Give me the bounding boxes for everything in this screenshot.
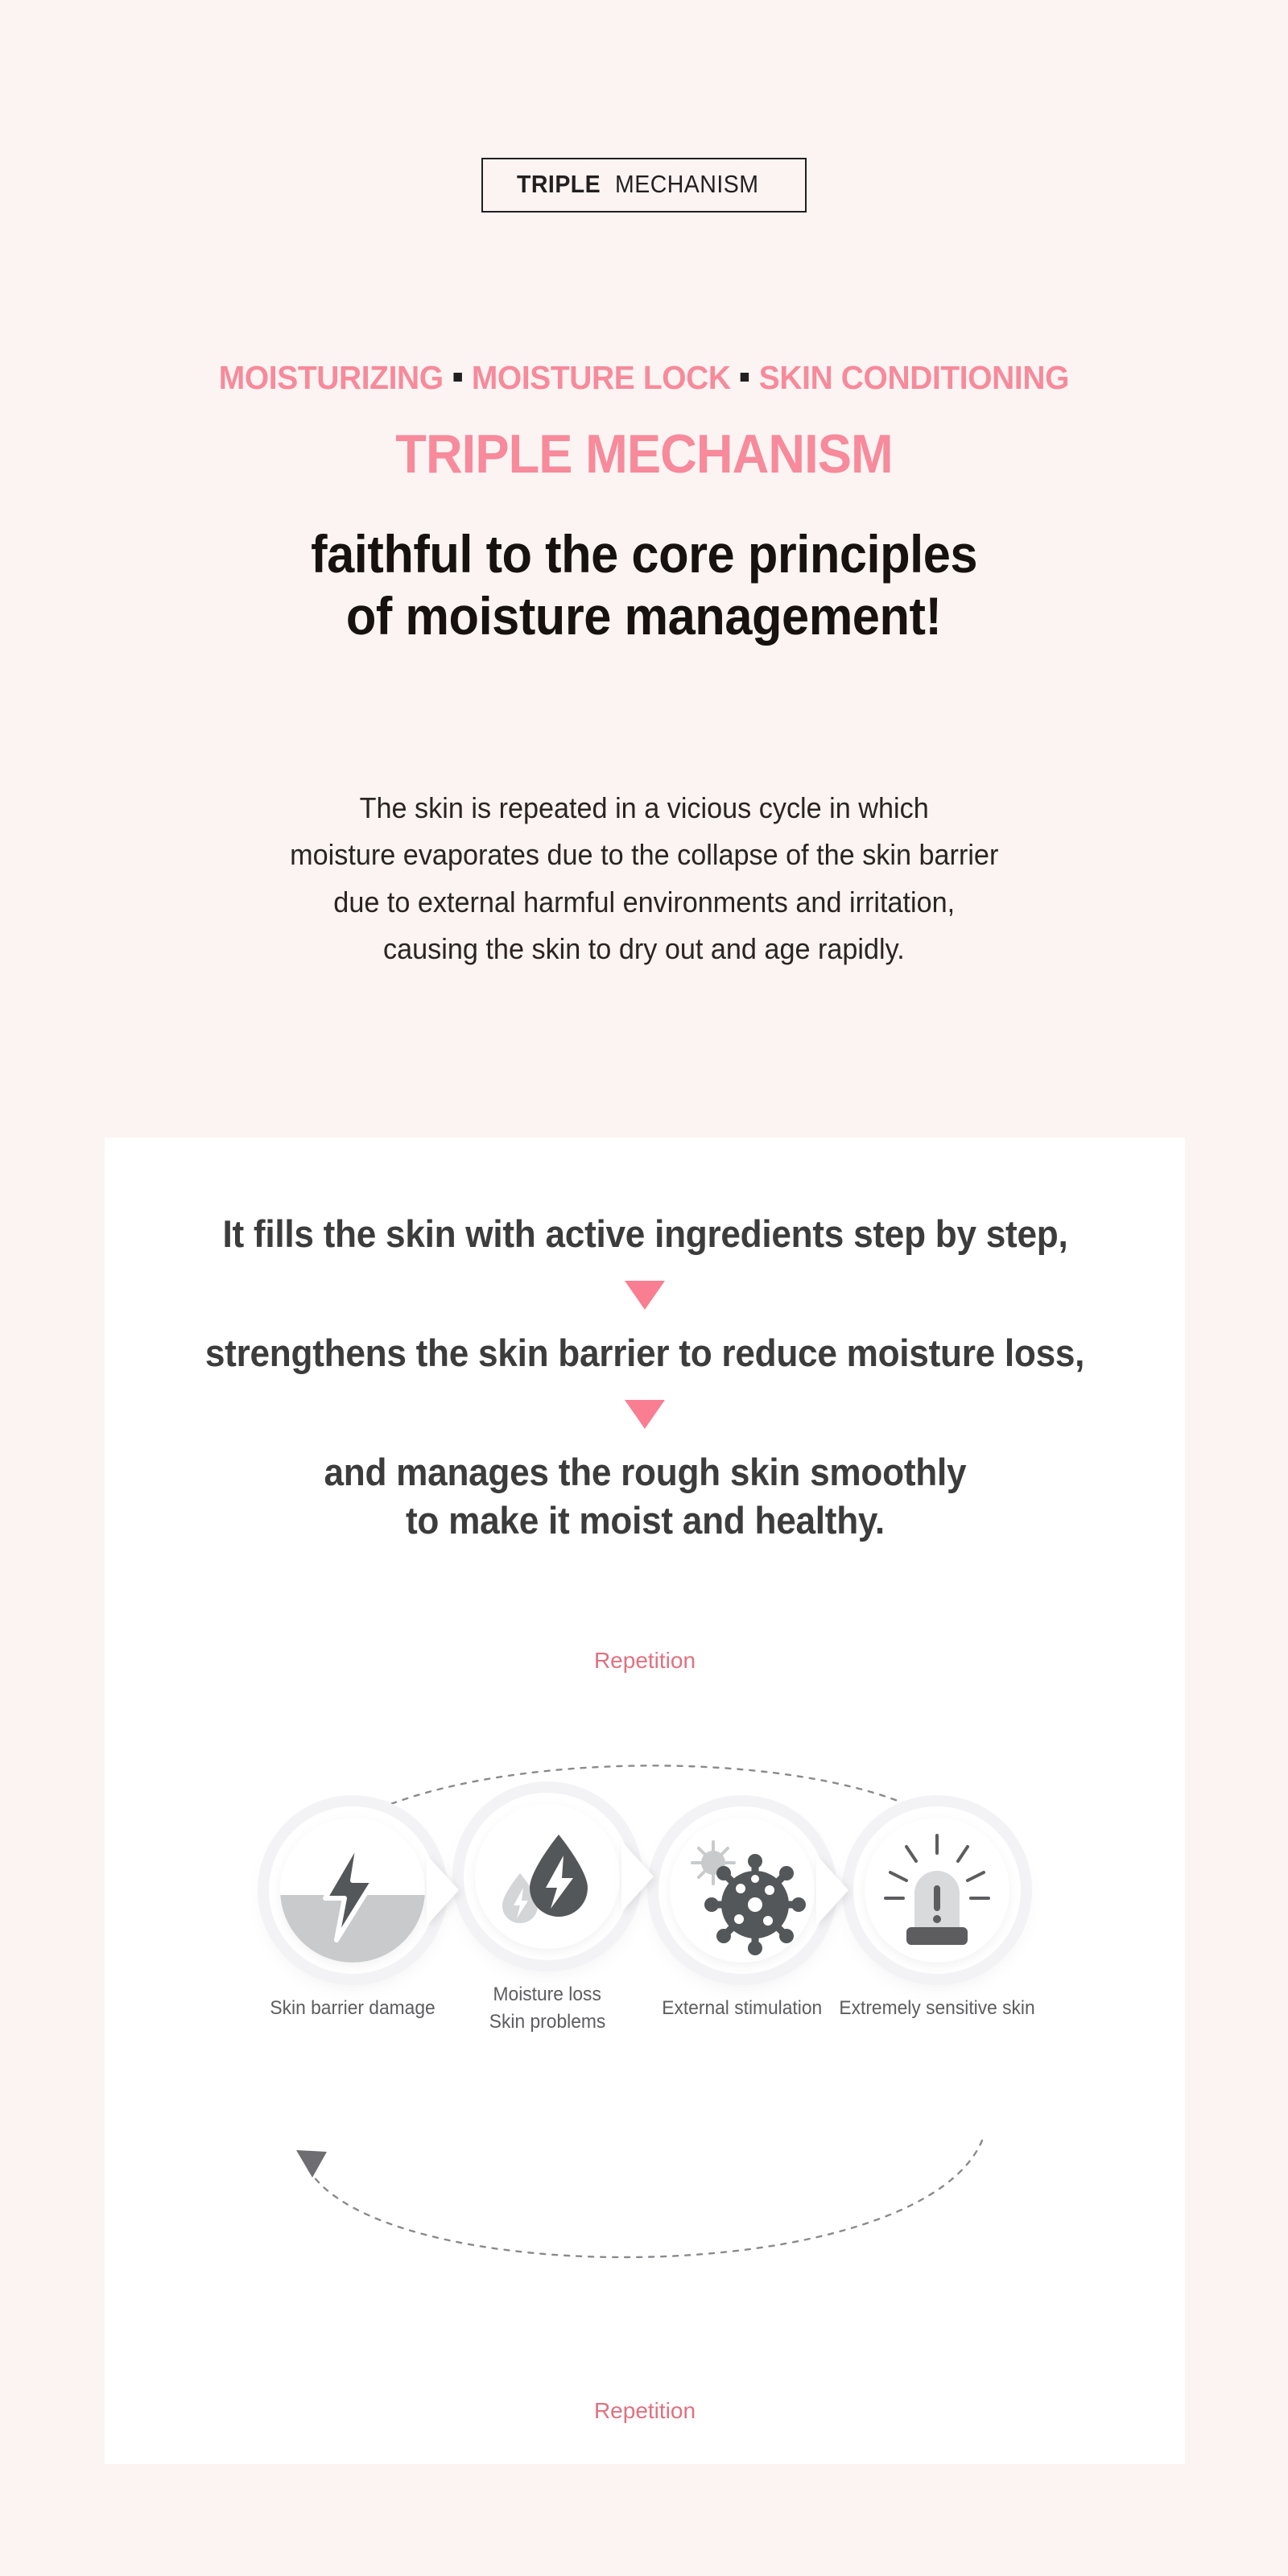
paragraph-line-2: moisture evaporates due to the collapse … xyxy=(290,832,998,878)
alarm-siren-warning-icon xyxy=(865,1818,1009,1963)
cycle-arrows-svg xyxy=(105,1643,1185,2448)
cycle-nodes-row: Skin barrier damage xyxy=(105,1793,1185,2036)
step-line-1: It fills the skin with active ingredient… xyxy=(105,1210,1185,1258)
siren-base xyxy=(906,1927,968,1945)
cycle-node-2-disc xyxy=(464,1793,631,1960)
cycle-node-3-label: External stimulation xyxy=(658,1995,826,2022)
mechanism-card: It fills the skin with active ingredient… xyxy=(105,1137,1185,2464)
repetition-label-top: Repetition xyxy=(594,1648,696,1674)
badge-light-text: MECHANISM xyxy=(615,170,758,199)
step-1-text: It fills the skin with active ingredient… xyxy=(222,1210,1067,1258)
cycle-node-1-label-line-1: Skin barrier damage xyxy=(270,1995,435,2022)
cycle-node-1-disc xyxy=(269,1806,436,1974)
virus-body xyxy=(704,1854,806,1955)
paragraph-line-4: causing the skin to dry out and age rapi… xyxy=(383,926,905,972)
cycle-node-4-disc xyxy=(853,1806,1021,1974)
cycle-node-3-disc xyxy=(658,1806,826,1974)
cycle-node-1: Skin barrier damage xyxy=(255,1806,450,2022)
cycle-node-2-label: Moisture loss Skin problems xyxy=(486,1981,609,2036)
chevron-right-icon-2 xyxy=(621,1841,654,1912)
cycle-node-4-label: Extremely sensitive skin xyxy=(834,1995,1040,2022)
kicker-part-3: SKIN CONDITIONING xyxy=(759,359,1069,396)
cycle-node-3: External stimulation xyxy=(645,1806,840,2022)
headline-line-2: of moisture management! xyxy=(346,585,942,647)
step-line-4: to make it moist and healthy. xyxy=(105,1496,1185,1545)
page-title-pink: TRIPLE MECHANISM xyxy=(0,427,1288,481)
chevron-right-icon-3 xyxy=(816,1855,848,1926)
kicker-line: MOISTURIZINGMOISTURE LOCKSKIN CONDITIONI… xyxy=(0,359,1288,397)
cycle-node-2: Moisture loss Skin problems xyxy=(450,1793,645,2036)
cycle-node-4-inner xyxy=(865,1818,1009,1963)
cycle-node-4-label-line-1: Extremely sensitive skin xyxy=(839,1995,1034,2022)
page-headline: faithful to the core principles of moist… xyxy=(0,523,1288,647)
chevron-right-icon-1 xyxy=(427,1855,459,1926)
page-title-pink-text: TRIPLE MECHANISM xyxy=(395,427,893,481)
cycle-node-1-inner xyxy=(280,1818,425,1963)
cycle-node-1-label: Skin barrier damage xyxy=(266,1995,440,2022)
triple-mechanism-badge: TRIPLE MECHANISM xyxy=(481,158,807,213)
kicker-part-1: MOISTURIZING xyxy=(219,359,444,396)
step-2-text: strengthens the skin barrier to reduce m… xyxy=(205,1329,1084,1377)
step-3-text-line-2: to make it moist and healthy. xyxy=(406,1496,885,1545)
product-detail-page: TRIPLE MECHANISM MOISTURIZINGMOISTURE LO… xyxy=(0,0,1288,2576)
vicious-cycle-diagram: Repetition Repetition xyxy=(105,1643,1185,2448)
virus-germ-with-sun-icon xyxy=(670,1818,815,1963)
paragraph-line-3: due to external harmful environments and… xyxy=(333,879,955,926)
section-badge-wrapper: TRIPLE MECHANISM xyxy=(0,158,1288,213)
repetition-arc-bottom xyxy=(306,2140,982,2257)
water-droplets-with-bolt-icon xyxy=(475,1804,620,1949)
paragraph-line-1: The skin is repeated in a vicious cycle … xyxy=(359,785,928,832)
repetition-arrowhead-bottom xyxy=(296,2150,327,2178)
repetition-label-bottom: Repetition xyxy=(594,2398,696,2424)
cycle-node-2-inner xyxy=(475,1804,620,1949)
mechanism-steps: It fills the skin with active ingredient… xyxy=(105,1210,1185,1546)
cycle-node-2-label-line-1: Moisture loss xyxy=(493,1981,601,2008)
arrow-down-icon-2 xyxy=(625,1400,665,1429)
badge-strong-text: TRIPLE xyxy=(517,170,601,199)
cycle-node-4: Extremely sensitive skin xyxy=(840,1806,1034,2022)
arrow-down-icon-1 xyxy=(625,1281,665,1310)
kicker-separator-dot-1 xyxy=(453,373,461,382)
intro-paragraph: The skin is repeated in a vicious cycle … xyxy=(0,785,1288,972)
step-line-3: and manages the rough skin smoothly xyxy=(105,1448,1185,1496)
step-line-2: strengthens the skin barrier to reduce m… xyxy=(105,1329,1185,1377)
kicker-part-2: MOISTURE LOCK xyxy=(472,359,731,396)
step-3-text-line-1: and manages the rough skin smoothly xyxy=(324,1448,966,1496)
cycle-node-3-inner xyxy=(670,1818,815,1963)
kicker-separator-dot-2 xyxy=(741,373,749,382)
cycle-node-2-label-line-2: Skin problems xyxy=(489,2008,605,2036)
cycle-node-3-label-line-1: External stimulation xyxy=(663,1995,823,2022)
lightning-bolt-over-half-filled-circle-icon xyxy=(280,1818,425,1963)
headline-line-1: faithful to the core principles xyxy=(311,523,977,585)
